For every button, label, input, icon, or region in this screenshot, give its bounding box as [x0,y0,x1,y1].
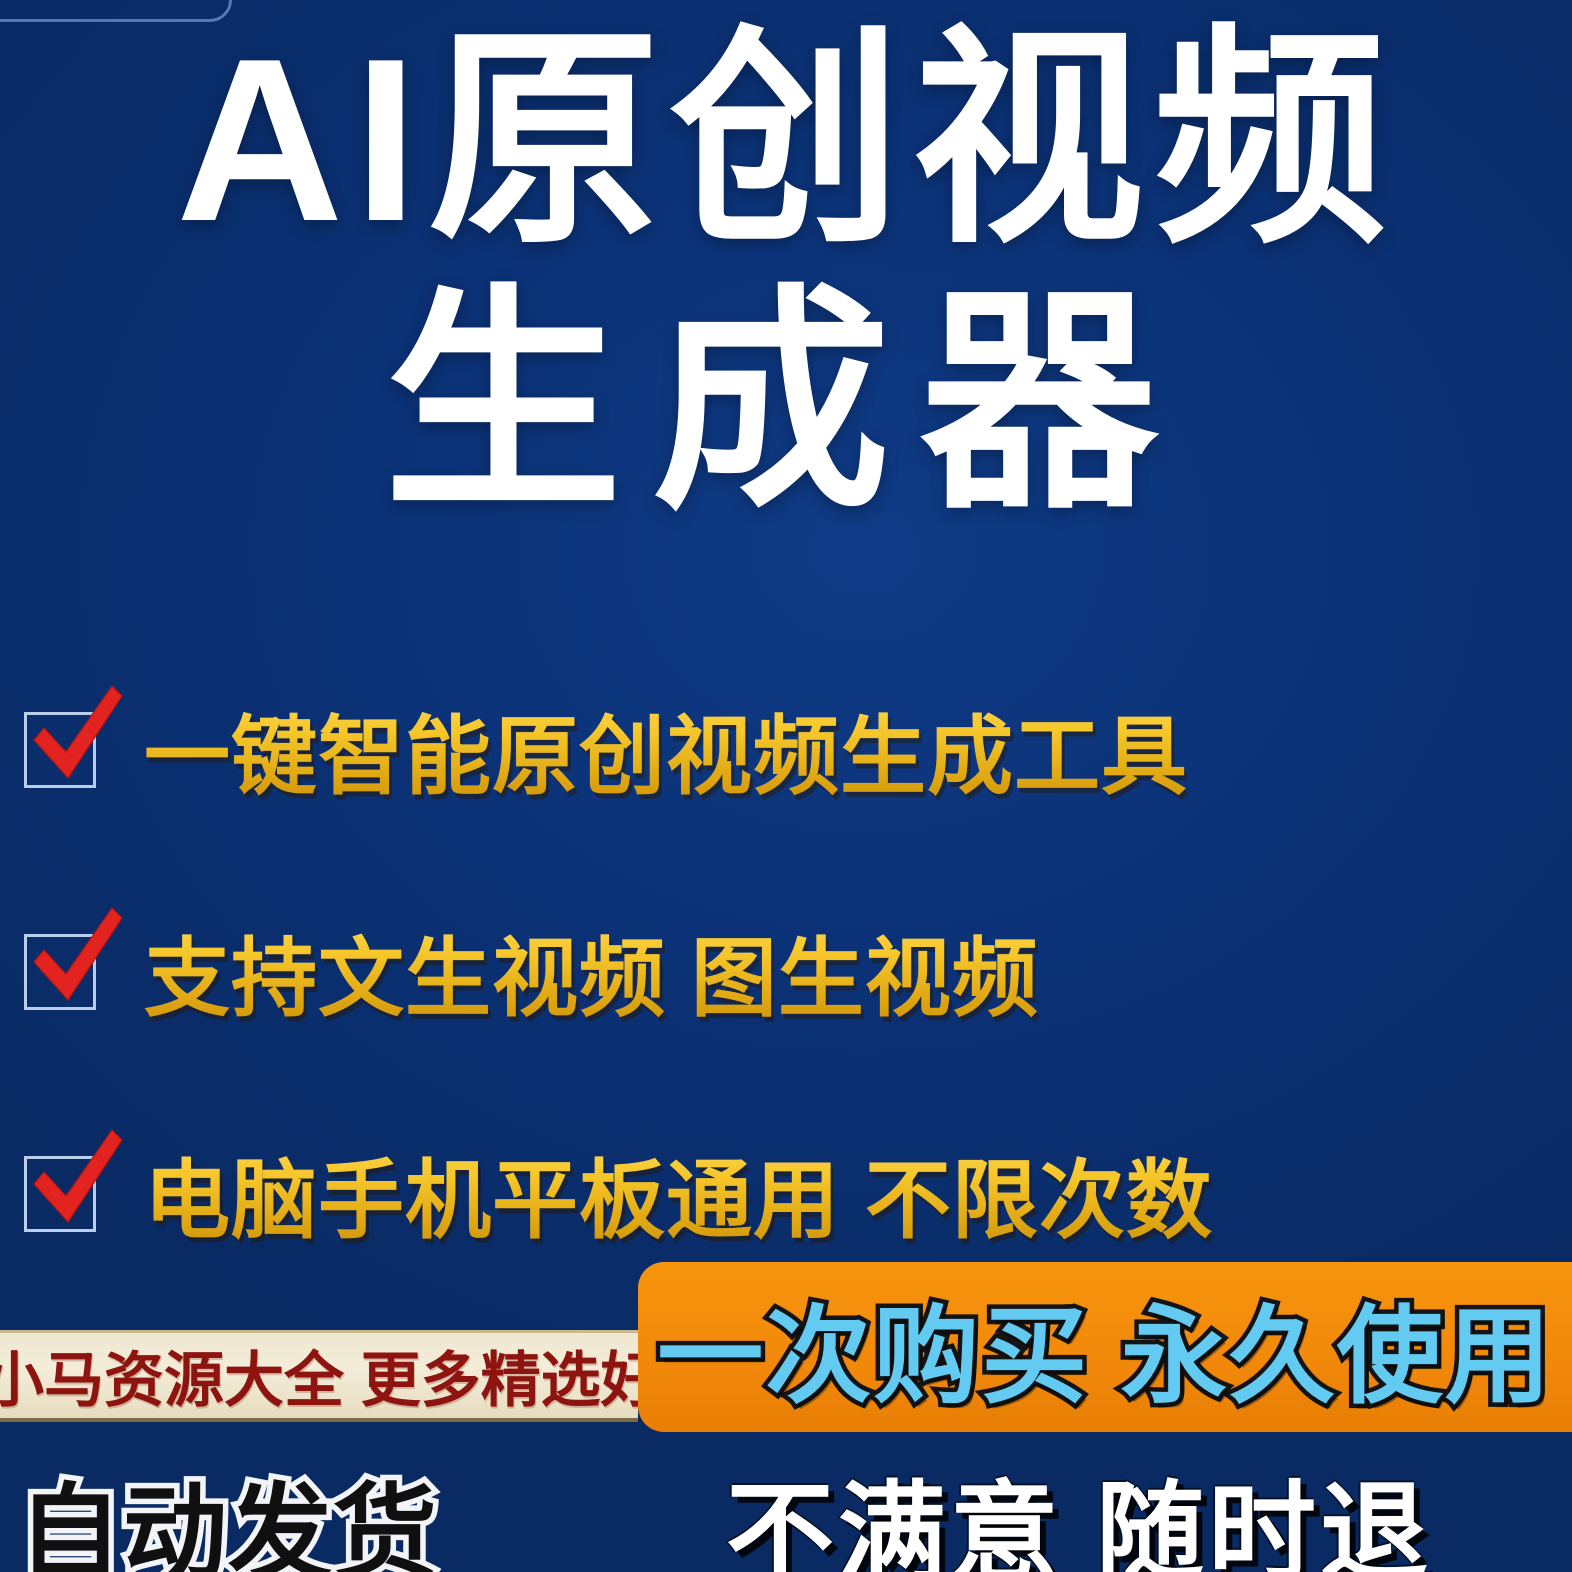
checked-checkbox-icon [24,706,98,790]
purchase-banner-text: 一次购买 永久使用 [657,1270,1552,1424]
feature-label: 支持文生视频 图生视频 [144,908,1039,1033]
check-mark-icon [28,906,124,1010]
check-mark-icon [28,1128,124,1232]
promotional-poster: AI原创视频 生成器 一键智能原创视频生成工具 支持文生视频 图生视 [0,0,1572,1572]
promo-strip-text: 小马资源大全 更多精选好货 [0,1332,721,1419]
check-mark-icon [28,684,124,788]
feature-item: 一键智能原创视频生成工具 [16,686,1556,810]
title-line-1: AI原创视频 [0,18,1572,264]
auto-delivery-text: 自动发货 [18,1448,438,1572]
feature-label: 一键智能原创视频生成工具 [144,686,1188,811]
title-line-2: 生成器 [0,278,1572,530]
guarantee-row: 自动发货 不满意 随时退 [0,1434,1572,1572]
feature-label: 电脑手机平板通用 不限次数 [144,1130,1213,1255]
refund-guarantee-text: 不满意 随时退 [726,1446,1432,1572]
feature-item: 支持文生视频 图生视频 [16,908,1556,1032]
checked-checkbox-icon [24,1150,98,1234]
feature-list: 一键智能原创视频生成工具 支持文生视频 图生视频 电脑手机平板通用 不限次数 [16,686,1556,1352]
promo-strip: 小马资源大全 更多精选好货 [0,1330,638,1422]
feature-item: 电脑手机平板通用 不限次数 [16,1130,1556,1254]
purchase-banner: 一次购买 永久使用 [638,1262,1572,1432]
page-title: AI原创视频 生成器 [0,18,1572,530]
checked-checkbox-icon [24,928,98,1012]
